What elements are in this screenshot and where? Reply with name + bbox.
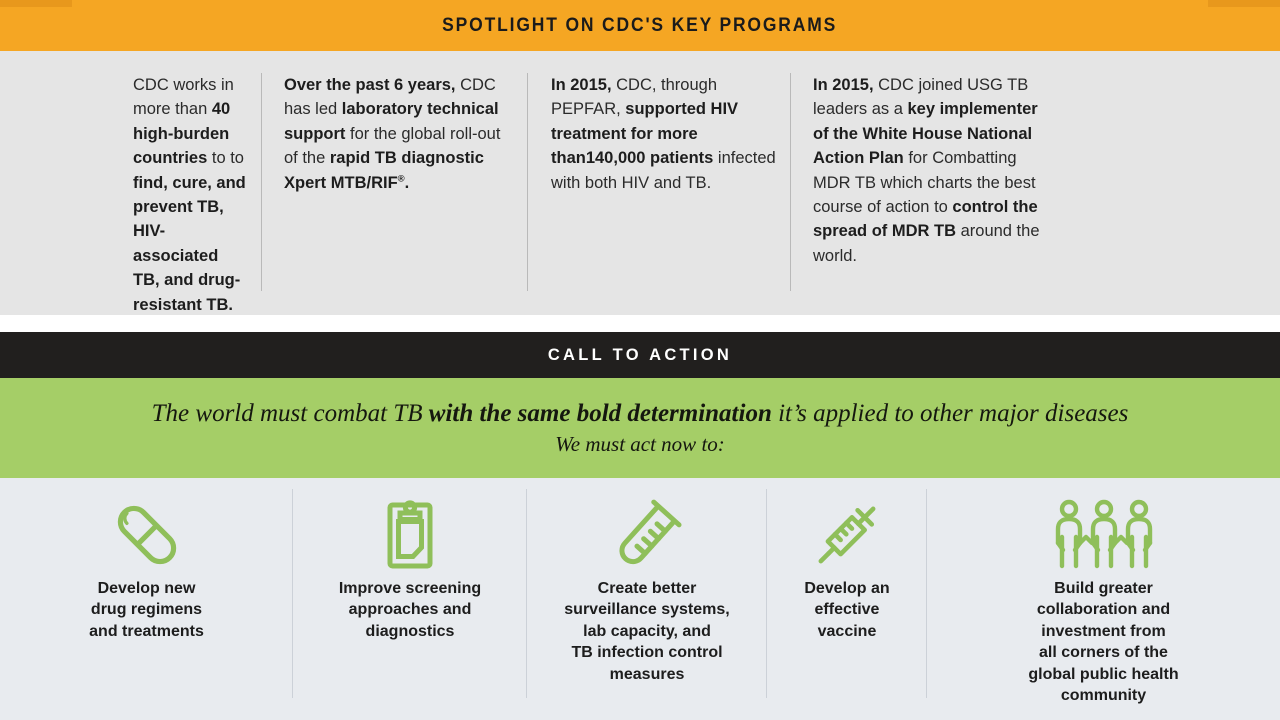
clipboard-icon bbox=[367, 492, 453, 578]
banner-edge-strip-right bbox=[1208, 0, 1280, 7]
infographic-page: SPOTLIGHT ON CDC'S KEY PROGRAMS CDC work… bbox=[0, 0, 1280, 720]
program-column-text: CDC works in more than 40 high-burden co… bbox=[133, 73, 248, 317]
program-column-text: Over the past 6 years, CDC has led labor… bbox=[284, 73, 514, 195]
call-to-action-subtitle: We must act now to: bbox=[555, 432, 725, 456]
program-column-national-action-plan: In 2015, CDC joined USG TB leaders as a … bbox=[791, 73, 1071, 315]
action-item-develop-drug-regimens: Develop new drug regimens and treatments bbox=[0, 478, 293, 720]
syringe-icon bbox=[804, 492, 890, 578]
program-column-lab-support: Over the past 6 years, CDC has led labor… bbox=[262, 73, 528, 315]
test-tube-icon bbox=[604, 492, 690, 578]
call-to-action-title: CALL TO ACTION bbox=[548, 346, 732, 365]
action-item-develop-vaccine: Develop an effective vaccine bbox=[767, 478, 927, 720]
action-item-label: Create better surveillance systems, lab … bbox=[558, 578, 735, 685]
spotlight-banner-title: SPOTLIGHT ON CDC'S KEY PROGRAMS bbox=[443, 15, 838, 37]
action-item-build-collaboration: Build greater collaboration and investme… bbox=[927, 478, 1280, 720]
action-item-label: Develop new drug regimens and treatments bbox=[83, 578, 210, 642]
pill-capsule-icon bbox=[104, 492, 190, 578]
call-to-action-banner: CALL TO ACTION bbox=[0, 332, 1280, 378]
three-people-icon bbox=[1045, 492, 1163, 578]
program-column-pepfar-hiv: In 2015, CDC, through PEPFAR, supported … bbox=[528, 73, 791, 315]
section-gap bbox=[0, 315, 1280, 332]
banner-edge-strip-left bbox=[0, 0, 72, 7]
spotlight-banner: SPOTLIGHT ON CDC'S KEY PROGRAMS bbox=[0, 0, 1280, 51]
program-column-global-tb-work: CDC works in more than 40 high-burden co… bbox=[0, 73, 262, 315]
call-to-action-statement-banner: The world must combat TB with the same b… bbox=[0, 378, 1280, 478]
action-item-improve-screening: Improve screening approaches and diagnos… bbox=[293, 478, 527, 720]
program-column-text: In 2015, CDC joined USG TB leaders as a … bbox=[813, 73, 1055, 268]
action-item-create-surveillance: Create better surveillance systems, lab … bbox=[527, 478, 767, 720]
action-item-label: Develop an effective vaccine bbox=[798, 578, 895, 642]
spotlight-programs-panel: CDC works in more than 40 high-burden co… bbox=[0, 51, 1280, 315]
action-items-panel: Develop new drug regimens and treatments… bbox=[0, 478, 1280, 720]
action-item-label: Build greater collaboration and investme… bbox=[1022, 578, 1184, 707]
program-column-text: In 2015, CDC, through PEPFAR, supported … bbox=[551, 73, 777, 195]
call-to-action-statement: The world must combat TB with the same b… bbox=[152, 400, 1129, 429]
action-item-label: Improve screening approaches and diagnos… bbox=[333, 578, 487, 642]
